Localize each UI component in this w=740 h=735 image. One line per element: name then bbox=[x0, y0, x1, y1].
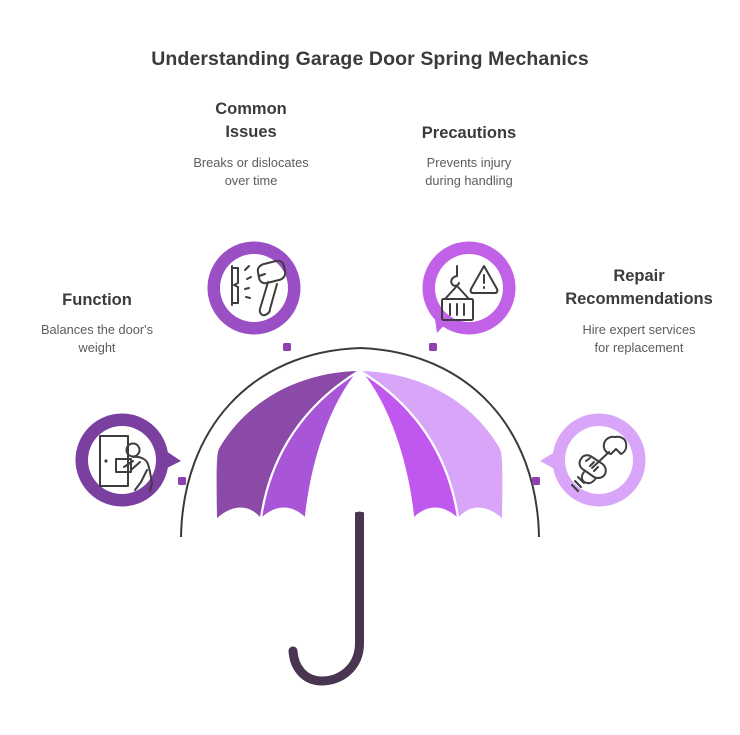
icon-node-precautions[interactable] bbox=[429, 248, 509, 333]
diagram-graphics bbox=[0, 0, 740, 735]
umbrella-illustration bbox=[217, 371, 503, 681]
icon-node-common-issues[interactable] bbox=[214, 248, 294, 332]
infographic-canvas: Understanding Garage Door Spring Mechani… bbox=[0, 0, 740, 735]
umbrella-handle bbox=[293, 516, 360, 681]
connector-dot-common-issues bbox=[283, 343, 291, 351]
connector-dot-repair bbox=[532, 477, 540, 485]
connector-dot-precautions bbox=[429, 343, 437, 351]
connector-dot-function bbox=[178, 477, 186, 485]
icon-ring-fill-precautions bbox=[435, 254, 503, 322]
icon-node-function[interactable] bbox=[82, 420, 181, 500]
icon-ring-fill-repair bbox=[565, 426, 633, 494]
umbrella-ferrule bbox=[355, 512, 364, 528]
icon-node-repair-recommendations[interactable] bbox=[540, 420, 639, 500]
icon-ring-fill-common-issues bbox=[220, 254, 288, 322]
